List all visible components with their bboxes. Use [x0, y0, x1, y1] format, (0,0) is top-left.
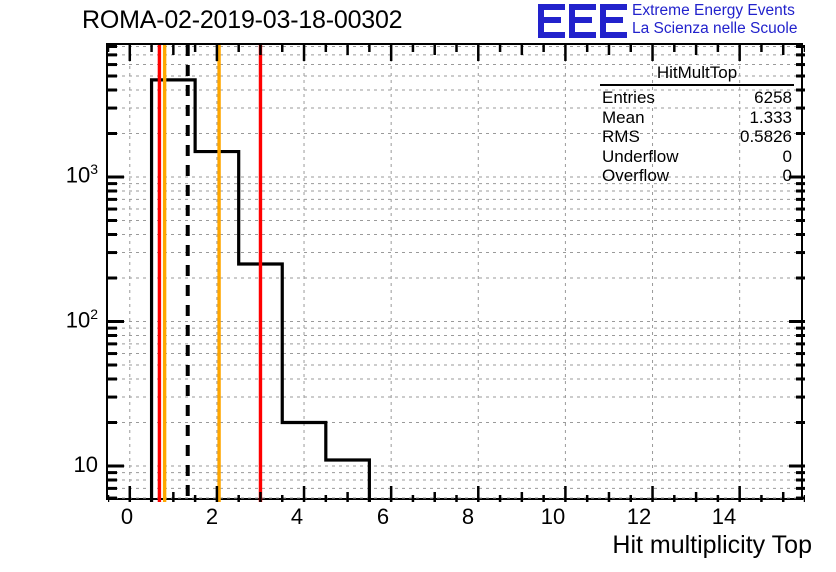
eee-logo-text: Extreme Energy Events La Scienza nelle S… [632, 2, 797, 38]
stats-row: Overflow0 [596, 166, 798, 186]
xtick-label-4: 4 [277, 504, 317, 530]
eee-tagline-2: La Scienza nelle Scuole [632, 20, 797, 38]
xtick-label-12: 12 [619, 504, 659, 530]
stats-box: HitMultTop Entries6258Mean1.333RMS0.5826… [596, 63, 798, 186]
ytick-label-100: 102 [34, 306, 98, 333]
xtick-label-10: 10 [533, 504, 573, 530]
stats-key: Mean [602, 108, 645, 128]
xtick-label-8: 8 [448, 504, 488, 530]
stats-key: RMS [602, 127, 640, 147]
ytick-label-1000: 103 [34, 161, 98, 188]
ytick-label-10: 10 [34, 452, 98, 478]
page-title: ROMA-02-2019-03-18-00302 [82, 6, 402, 35]
stats-row: Entries6258 [596, 88, 798, 108]
stats-row: Mean1.333 [596, 108, 798, 128]
stats-title: HitMultTop [596, 63, 798, 84]
stats-row: RMS0.5826 [596, 127, 798, 147]
xtick-label-14: 14 [704, 504, 744, 530]
xtick-label-2: 2 [192, 504, 232, 530]
chart-canvas: ROMA-02-2019-03-18-00302 Extreme Energy … [0, 0, 836, 572]
stats-value: 6258 [754, 88, 792, 108]
stats-value: 1.333 [749, 108, 792, 128]
stats-row: Underflow0 [596, 147, 798, 167]
stats-value: 0.5826 [740, 127, 792, 147]
stats-value: 0 [783, 166, 792, 186]
stats-key: Underflow [602, 147, 679, 167]
x-axis-title: Hit multiplicity Top [612, 531, 812, 560]
stats-key: Overflow [602, 166, 669, 186]
xtick-label-6: 6 [363, 504, 403, 530]
stats-value: 0 [783, 147, 792, 167]
stats-divider [600, 84, 794, 86]
eee-tagline-1: Extreme Energy Events [632, 2, 797, 20]
stats-key: Entries [602, 88, 655, 108]
eee-logo: Extreme Energy Events La Scienza nelle S… [538, 2, 834, 42]
xtick-label-0: 0 [107, 504, 147, 530]
eee-logo-mark [538, 3, 628, 39]
stats-rows: Entries6258Mean1.333RMS0.5826Underflow0O… [596, 88, 798, 186]
